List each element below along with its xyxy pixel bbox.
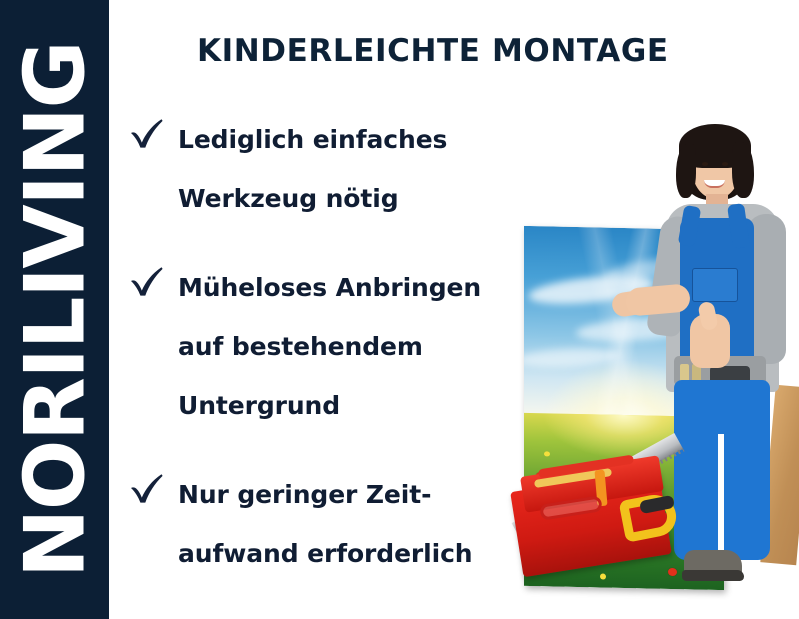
list-item-line: Müheloses Anbringen (178, 258, 518, 317)
checkmark-icon (128, 116, 166, 150)
page-title: KINDERLEICHTE MONTAGE (197, 33, 669, 69)
list-item: Müheloses Anbringen auf bestehendem Unte… (128, 258, 518, 435)
eye-right (722, 162, 728, 166)
list-item-line: aufwand erforderlich (178, 524, 518, 583)
brand-name: NORILIVING (13, 41, 96, 577)
list-item-line: Lediglich einfaches (178, 110, 518, 169)
checkmark-icon (128, 264, 166, 298)
checkmark-icon (128, 471, 166, 505)
list-item: Nur geringer Zeit- aufwand erforderlich (128, 465, 518, 583)
poster-root: NORILIVING KINDERLEICHTE MONTAGE Ledigli… (0, 0, 799, 619)
list-item-line: auf bestehendem (178, 317, 518, 376)
eye-left (702, 162, 708, 166)
chest-pocket (692, 268, 738, 302)
list-item: Lediglich einfaches Werkzeug nötig (128, 110, 518, 228)
hair-side-left (676, 144, 696, 198)
leg-gap (718, 434, 724, 558)
list-item-line: Nur geringer Zeit- (178, 465, 518, 524)
yellow-flower (600, 574, 606, 580)
feature-list: Lediglich einfaches Werkzeug nötig Mühel… (128, 110, 518, 583)
yellow-flower (544, 452, 550, 457)
list-item-line: Untergrund (178, 376, 518, 435)
product-photo (500, 118, 799, 619)
brand-sidebar: NORILIVING (0, 0, 109, 619)
list-item-line: Werkzeug nötig (178, 169, 518, 228)
shoe-sole (682, 570, 744, 581)
